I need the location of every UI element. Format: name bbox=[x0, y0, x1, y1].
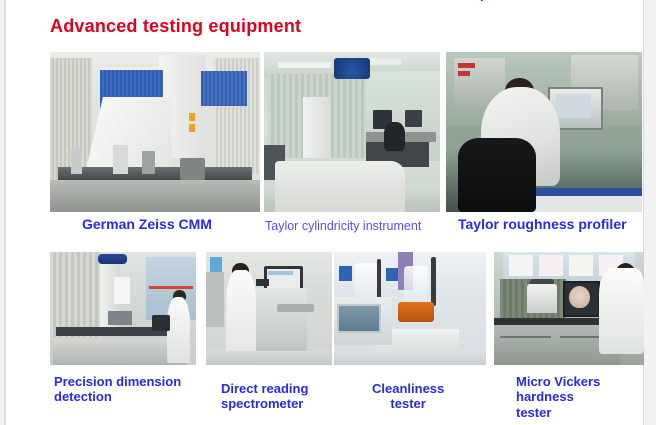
caption-taylor-roughness-profiler: Taylor roughness profiler bbox=[458, 216, 627, 233]
caption-micro-vickers-hardness-tester: Micro Vickers hardness tester bbox=[516, 374, 600, 420]
clipped-text-fragment: I bbox=[480, 0, 484, 1]
caption-direct-reading-spectrometer: Direct reading spectrometer bbox=[221, 381, 308, 412]
caption-cleanliness-tester: Cleanliness tester bbox=[372, 381, 444, 412]
micro-vickers-hardness-tester-photo bbox=[494, 252, 644, 365]
caption-german-zeiss-cmm: German Zeiss CMM bbox=[82, 216, 212, 233]
caption-taylor-cylindricity-instrument: Taylor cylindricity instrument bbox=[265, 219, 421, 234]
content-page: I Advanced testing equipment German Zei bbox=[4, 0, 644, 425]
german-zeiss-cmm-photo bbox=[50, 52, 260, 212]
caption-precision-dimension-detection: Precision dimension detection bbox=[54, 374, 181, 405]
cleanliness-tester-photo bbox=[334, 252, 486, 365]
page-title: Advanced testing equipment bbox=[50, 16, 301, 37]
taylor-roughness-profiler-photo bbox=[446, 52, 642, 212]
direct-reading-spectrometer-photo bbox=[206, 252, 332, 365]
taylor-cylindricity-instrument-photo bbox=[264, 52, 440, 212]
precision-dimension-detection-photo bbox=[50, 252, 196, 365]
